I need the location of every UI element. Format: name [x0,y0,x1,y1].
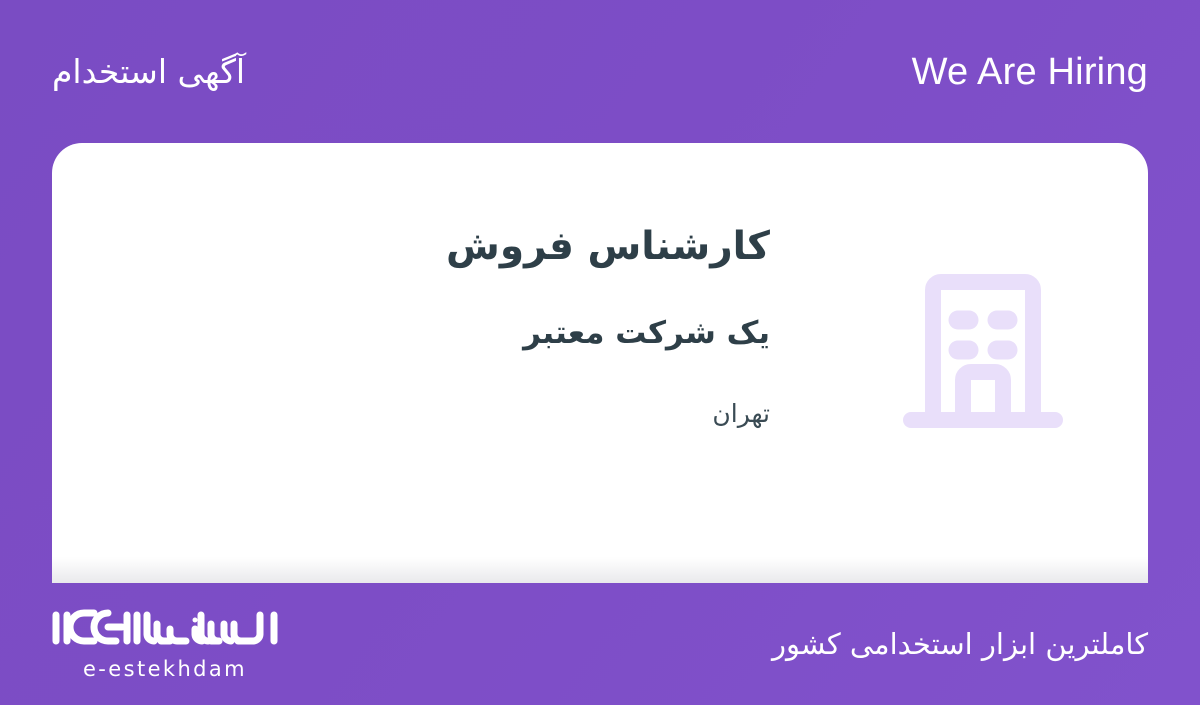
header-english-title: We Are Hiring [912,53,1148,91]
e-estekhdam-wordmark-icon [52,609,278,653]
job-ad-poster: We Are Hiring آگهی استخدام کارشناس فروش … [0,0,1200,705]
footer-tagline: کاملترین ابزار استخدامی کشور [772,630,1148,659]
building-icon [901,268,1065,434]
brand-logo: e-estekhdam [52,609,278,680]
job-card-content: کارشناس فروش یک شرکت معتبر تهران [52,143,1148,583]
poster-footer: کاملترین ابزار استخدامی کشور [0,583,1200,705]
job-details: کارشناس فروش یک شرکت معتبر تهران [52,143,818,429]
job-title: کارشناس فروش [52,223,770,272]
company-name: یک شرکت معتبر [52,314,770,353]
company-logo-area [818,143,1148,434]
header-persian-title: آگهی استخدام [52,55,245,88]
brand-latin-name: e-estekhdam [83,659,247,680]
job-card: کارشناس فروش یک شرکت معتبر تهران [52,143,1148,583]
job-location: تهران [52,398,770,429]
poster-header: We Are Hiring آگهی استخدام [0,0,1200,143]
